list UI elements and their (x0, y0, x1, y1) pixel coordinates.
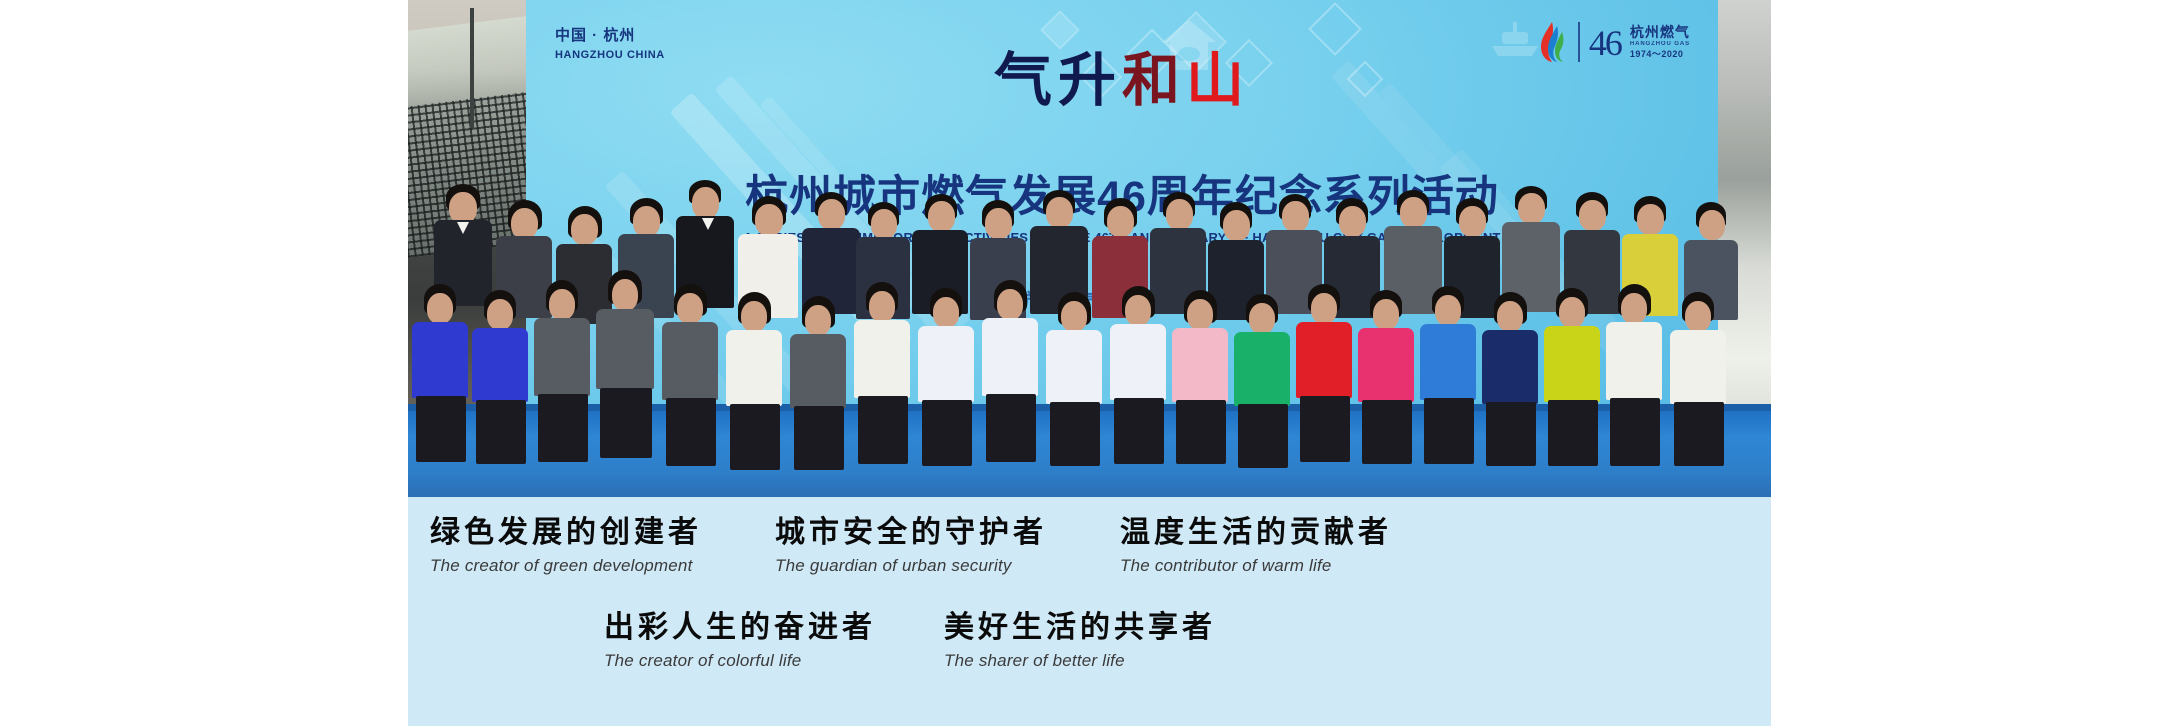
slogan-warm-life: 温度生活的贡献者 The contributor of warm life (1120, 515, 1465, 576)
poster-content: 中国 · 杭州 HANGZHOU CHINA 46 杭州燃气 HANGZHOU … (408, 0, 1771, 726)
slogan-en: The contributor of warm life (1120, 556, 1465, 576)
crowd-group (408, 172, 1771, 497)
slogan-urban-security: 城市安全的守护者 The guardian of urban security (775, 515, 1120, 576)
slogan-en: The sharer of better life (944, 651, 1284, 671)
group-photo: 中国 · 杭州 HANGZHOU CHINA 46 杭州燃气 HANGZHOU … (408, 0, 1771, 497)
slogan-en: The creator of green development (430, 556, 775, 576)
logo-company-cn: 杭州燃气 (1630, 24, 1690, 41)
wordmark-char-1: 气 (994, 48, 1058, 113)
anniversary-number: 46 (1589, 25, 1621, 61)
diamond-decor (1308, 2, 1362, 56)
slogan-cn: 温度生活的贡献者 (1120, 515, 1465, 552)
slogan-cn: 城市安全的守护者 (775, 515, 1120, 552)
slogan-cn: 美好生活的共享者 (944, 610, 1284, 647)
railing-post (470, 8, 474, 128)
locale-en: HANGZHOU CHINA (555, 48, 665, 63)
locale-cn: 中国 · 杭州 (555, 26, 665, 46)
wordmark-char-2: 升 (1058, 48, 1122, 113)
slogan-colorful-life: 出彩人生的奋进者 The creator of colorful life (604, 610, 944, 671)
slogan-en: The guardian of urban security (775, 556, 1120, 576)
logo-years: 1974～2020 (1630, 49, 1690, 60)
event-wordmark: 气升和山 (994, 52, 1250, 110)
wordmark-char-4: 山 (1186, 48, 1250, 113)
slogan-row-bottom: 出彩人生的奋进者 The creator of colorful life 美好… (408, 610, 1771, 671)
locale-block: 中国 · 杭州 HANGZHOU CHINA (555, 26, 665, 63)
logo-divider (1578, 22, 1580, 62)
hangzhou-gas-logo: 46 杭州燃气 HANGZHOU GAS 1974～2020 (1535, 20, 1690, 64)
diamond-decor (1040, 10, 1080, 50)
slogan-panel: 绿色发展的创建者 The creator of green developmen… (408, 497, 1771, 726)
slogan-cn: 出彩人生的奋进者 (604, 610, 944, 647)
slogan-row-top: 绿色发展的创建者 The creator of green developmen… (408, 515, 1771, 576)
slogan-green-development: 绿色发展的创建者 The creator of green developmen… (430, 515, 775, 576)
flame-icon (1535, 20, 1569, 64)
wordmark-char-3: 和 (1122, 48, 1186, 113)
slogan-better-life: 美好生活的共享者 The sharer of better life (944, 610, 1284, 671)
logo-company-en: HANGZHOU GAS (1630, 41, 1690, 48)
slogan-cn: 绿色发展的创建者 (430, 515, 775, 552)
page-root: 中国 · 杭州 HANGZHOU CHINA 46 杭州燃气 HANGZHOU … (0, 0, 2179, 726)
logo-text-block: 杭州燃气 HANGZHOU GAS 1974～2020 (1630, 24, 1690, 59)
slogan-en: The creator of colorful life (604, 651, 944, 671)
